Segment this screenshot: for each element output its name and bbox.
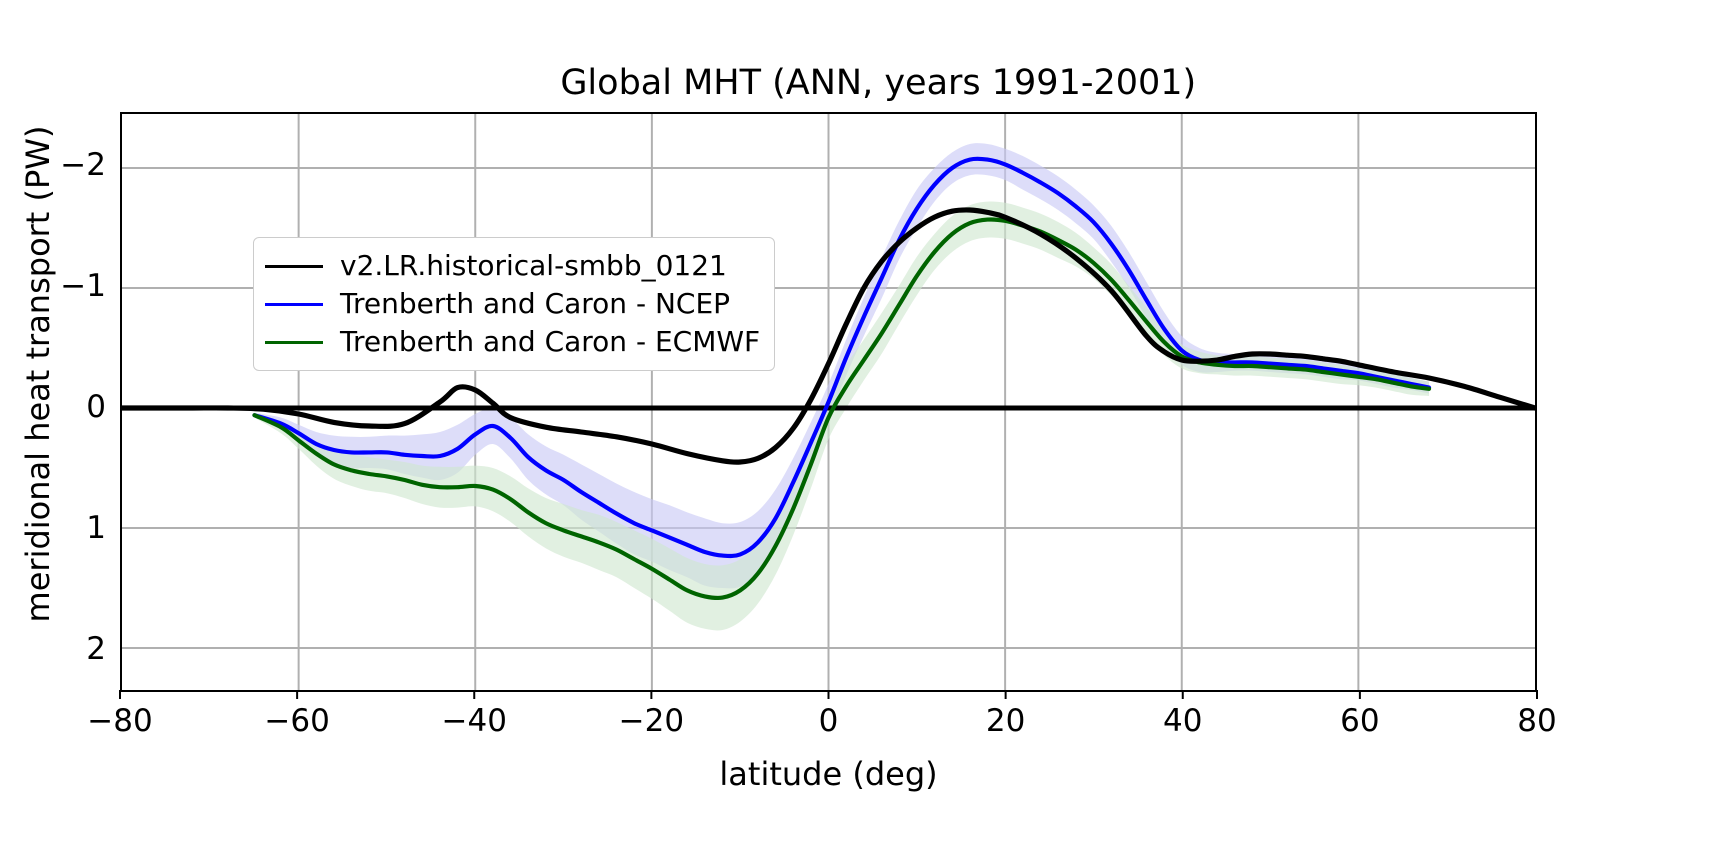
legend-swatch-ncep — [265, 303, 323, 306]
legend-item-ncep: Trenberth and Caron - NCEP — [265, 285, 760, 323]
x-axis-label: latitude (deg) — [120, 755, 1537, 793]
plot-area: v2.LR.historical-smbb_0121 Trenberth and… — [120, 112, 1537, 692]
chart-canvas — [122, 114, 1535, 690]
figure: Global MHT (ANN, years 1991-2001) v2.LR.… — [0, 0, 1712, 848]
x-tick-label-2: −40 — [442, 706, 507, 737]
legend-label-ecmwf: Trenberth and Caron - ECMWF — [340, 328, 760, 356]
title-line-1: Global MHT (ANN, years 1991-2001) — [560, 63, 1196, 103]
x-tick-label-3: −20 — [619, 706, 684, 737]
legend-item-ecmwf: Trenberth and Caron - ECMWF — [265, 323, 760, 361]
chart-legend: v2.LR.historical-smbb_0121 Trenberth and… — [253, 237, 775, 371]
x-tick-label-4: 0 — [819, 706, 839, 737]
legend-label-ncep: Trenberth and Caron - NCEP — [340, 290, 730, 318]
legend-label-model: v2.LR.historical-smbb_0121 — [340, 252, 727, 280]
legend-item-model: v2.LR.historical-smbb_0121 — [265, 247, 760, 285]
y-axis-label: meridional heat transport (PW) — [19, 84, 57, 664]
x-tick-label-8: 80 — [1517, 706, 1556, 737]
legend-swatch-model — [265, 265, 323, 268]
x-tick-label-7: 60 — [1340, 706, 1379, 737]
x-tick-label-5: 20 — [986, 706, 1025, 737]
x-tick-label-6: 40 — [1163, 706, 1202, 737]
x-tick-label-0: −80 — [87, 706, 152, 737]
legend-swatch-ecmwf — [265, 341, 323, 344]
x-tick-label-1: −60 — [264, 706, 329, 737]
